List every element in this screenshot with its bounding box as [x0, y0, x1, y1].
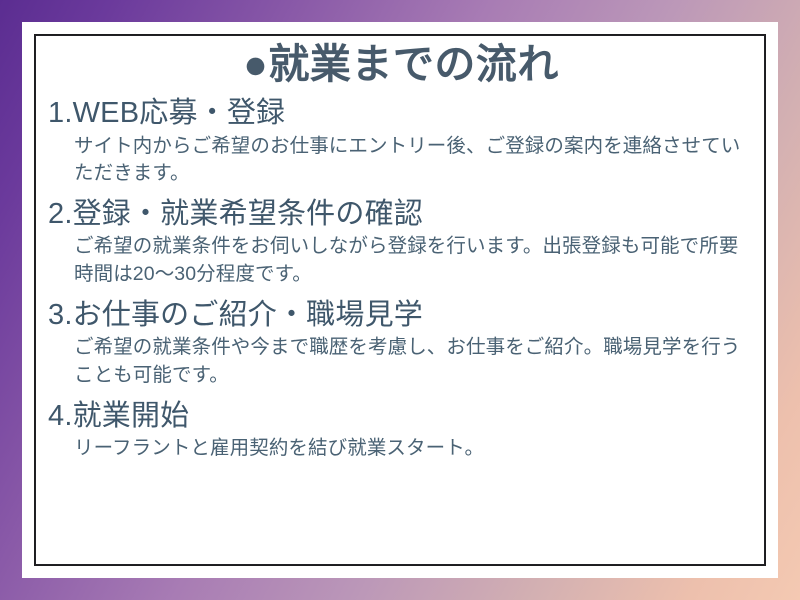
poster-gradient-background: ●就業までの流れ 1.WEB応募・登録 サイト内からご希望のお仕事にエントリー後…	[0, 0, 800, 600]
step-2-heading: 2.登録・就業希望条件の確認	[48, 197, 754, 232]
step-3-body: ご希望の就業条件や今まで職歴を考慮し、お仕事をご紹介。職場見学を行うことも可能で…	[74, 334, 754, 389]
step-4-body: リーフラントと雇用契約を結び就業スタート。	[74, 435, 754, 463]
poster-white-card: ●就業までの流れ 1.WEB応募・登録 サイト内からご希望のお仕事にエントリー後…	[22, 22, 778, 578]
step-2-body: ご希望の就業条件をお伺いしながら登録を行います。出張登録も可能で所要時間は20〜…	[74, 233, 754, 288]
page-title: ●就業までの流れ	[48, 42, 754, 86]
step-item-2: 2.登録・就業希望条件の確認 ご希望の就業条件をお伺いしながら登録を行います。出…	[48, 197, 754, 289]
step-item-1: 1.WEB応募・登録 サイト内からご希望のお仕事にエントリー後、ご登録の案内を連…	[48, 96, 754, 188]
step-3-heading: 3.お仕事のご紹介・職場見学	[48, 298, 754, 333]
step-4-heading: 4.就業開始	[48, 399, 754, 434]
poster-content: ●就業までの流れ 1.WEB応募・登録 サイト内からご希望のお仕事にエントリー後…	[22, 22, 778, 578]
step-item-4: 4.就業開始 リーフラントと雇用契約を結び就業スタート。	[48, 399, 754, 463]
step-item-3: 3.お仕事のご紹介・職場見学 ご希望の就業条件や今まで職歴を考慮し、お仕事をご紹…	[48, 298, 754, 390]
step-1-heading: 1.WEB応募・登録	[48, 96, 754, 131]
step-1-body: サイト内からご希望のお仕事にエントリー後、ご登録の案内を連絡させていただきます。	[74, 133, 754, 188]
